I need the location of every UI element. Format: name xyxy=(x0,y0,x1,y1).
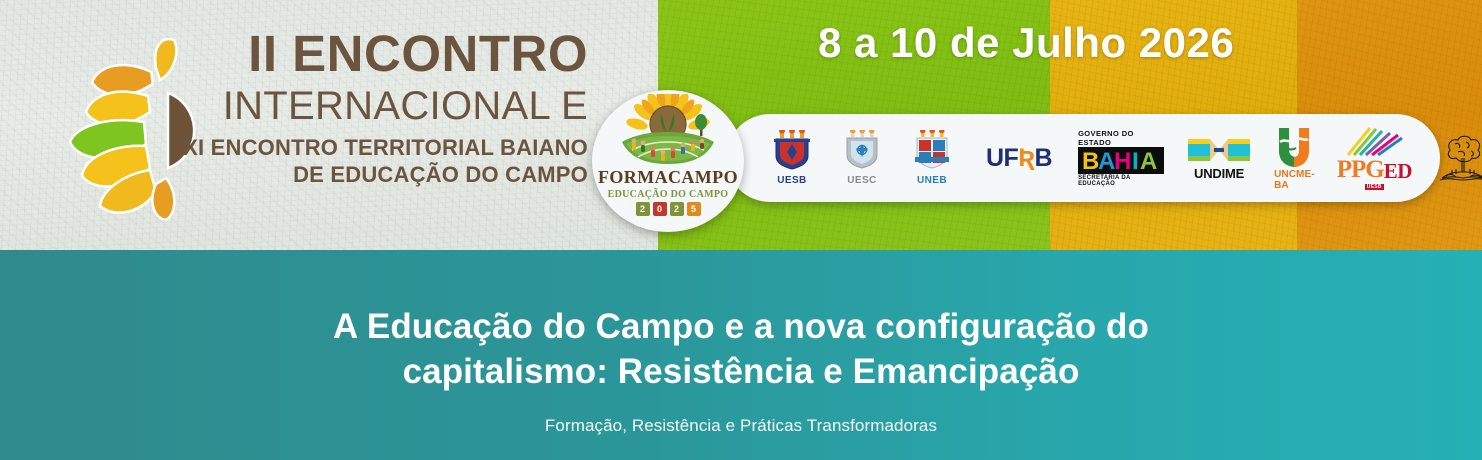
hero-subtitle: Formação, Resistência e Práticas Transfo… xyxy=(191,416,1291,436)
ppged-wordmark: PPG ED xyxy=(1337,156,1412,184)
bahia-bottom-text: SECRETARIA DA EDUCAÇÃO xyxy=(1078,175,1164,187)
uncme-label: UNCME-BA xyxy=(1274,169,1315,191)
formacampo-subtitle: EDUCAÇÃO DO CAMPO xyxy=(608,189,729,200)
undime-logo: UNDIME xyxy=(1188,135,1250,181)
uesb-label: UESB xyxy=(777,175,806,186)
banner-heading: II ENCONTRO INTERNACIONAL E XI ENCONTRO … xyxy=(170,28,588,189)
formacampo-year: 2 0 2 5 xyxy=(636,202,701,216)
year-digit-4: 5 xyxy=(687,202,701,216)
svg-text:A: A xyxy=(1098,148,1115,174)
bahia-top-text: GOVERNO DO ESTADO xyxy=(1078,129,1164,147)
bahia-wordmark-icon: B A H I A xyxy=(1078,147,1164,174)
uesc-logo: UESC xyxy=(842,130,882,186)
year-digit-2: 0 xyxy=(653,202,667,216)
svg-text:A: A xyxy=(1140,148,1157,174)
governo-bahia-logo: GOVERNO DO ESTADO B A H I A SECRETARIA D… xyxy=(1078,129,1164,187)
uneb-logo: UNEB xyxy=(912,130,952,186)
svg-text:H: H xyxy=(1114,148,1131,174)
ufrb-wordmark: UFƦB xyxy=(986,144,1052,173)
ppged-logo: PPG ED UESB xyxy=(1337,126,1412,190)
formacampo-logo: FORMACAMPO EDUCAÇÃO DO CAMPO 2 0 2 5 xyxy=(592,90,744,232)
uncme-ba-logo: UNCME-BA xyxy=(1274,126,1315,191)
ufrb-r-glyph: Ʀ xyxy=(1018,144,1034,172)
svg-text:B: B xyxy=(1082,148,1099,174)
uneb-label: UNEB xyxy=(917,175,947,186)
heading-line-2: INTERNACIONAL E xyxy=(170,84,588,129)
uesb-logo: UESB xyxy=(772,130,812,186)
ppged-badge: UESB xyxy=(1365,184,1384,190)
event-header-banner: II ENCONTRO INTERNACIONAL E XI ENCONTRO … xyxy=(0,0,1482,250)
formacampo-art-icon xyxy=(616,94,720,168)
sponsor-logo-strip: UESB UESC xyxy=(726,114,1440,202)
tree-crest-logo xyxy=(1436,132,1482,184)
undime-bowtie-icon xyxy=(1188,135,1250,165)
event-date: 8 a 10 de Julho 2026 xyxy=(818,19,1234,67)
undime-label: UNDIME xyxy=(1194,166,1244,181)
uneb-crest-icon xyxy=(912,130,952,174)
ppged-suffix: ED xyxy=(1384,159,1412,184)
ppged-prefix: PPG xyxy=(1337,156,1384,184)
uesb-crest-icon xyxy=(772,130,812,174)
hero-section: A Educação do Campo e a nova configuraçã… xyxy=(0,250,1482,460)
tree-crest-icon xyxy=(1436,132,1482,184)
heading-line-4: DE EDUCAÇÃO DO CAMPO xyxy=(170,161,588,189)
formacampo-title: FORMACAMPO xyxy=(598,167,738,188)
ufrb-logo: UFƦB xyxy=(986,144,1052,173)
year-digit-1: 2 xyxy=(636,202,650,216)
ppged-rays-icon xyxy=(1344,126,1404,156)
svg-text:I: I xyxy=(1132,148,1139,174)
heading-line-1: II ENCONTRO xyxy=(170,28,588,80)
hero-title: A Educação do Campo e a nova configuraçã… xyxy=(231,305,1251,395)
uesc-crest-icon xyxy=(842,130,882,174)
event-banner-page: II ENCONTRO INTERNACIONAL E XI ENCONTRO … xyxy=(0,0,1482,460)
year-digit-3: 2 xyxy=(670,202,684,216)
heading-line-3: XI ENCONTRO TERRITORIAL BAIANO xyxy=(170,134,588,162)
uesc-label: UESC xyxy=(847,175,876,186)
uncme-u-icon xyxy=(1274,126,1314,168)
